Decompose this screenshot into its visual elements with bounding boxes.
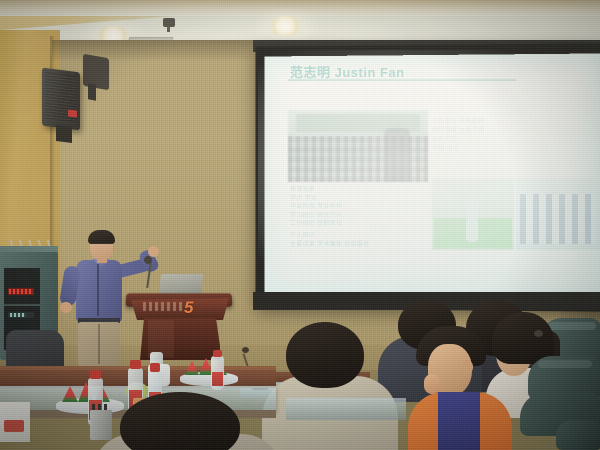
ear	[462, 360, 473, 374]
presenter-shirt-placket	[97, 264, 99, 316]
bottle-cap	[90, 370, 101, 379]
rack-led-digits	[9, 289, 33, 294]
audience-mid-left-head	[286, 322, 364, 388]
paper-box-label	[4, 420, 24, 432]
photo-people-row	[520, 194, 596, 244]
projector-mount	[167, 26, 170, 32]
presenter-right-hand	[148, 246, 159, 257]
speaker-brand-logo	[68, 109, 77, 117]
audience-profile-jersey-panel	[438, 392, 480, 450]
slide-title-rule	[288, 79, 516, 81]
bottle-label	[212, 372, 223, 386]
trouser-seam	[98, 324, 100, 364]
ceiling-downlight-icon	[268, 16, 302, 36]
bottle-cap	[130, 360, 141, 369]
pen-cup	[90, 410, 112, 440]
bottle-cap	[150, 363, 160, 372]
photo-figure	[466, 196, 478, 242]
slide-right-notes: 工作单位 职务职称 研究领域 主要方向 联系方式 邮箱 电话	[432, 118, 582, 154]
table-microphone-icon	[242, 347, 249, 353]
conference-chair	[556, 420, 600, 450]
glasses-icon	[92, 243, 112, 248]
audience-profile-hand	[424, 374, 440, 394]
bottle-cap	[213, 350, 222, 357]
photo-foreground-person	[384, 128, 410, 182]
hair-clip-icon	[534, 330, 543, 337]
speaker-bracket	[83, 54, 109, 91]
presenter-hair	[88, 230, 115, 244]
podium-logo: 5	[184, 299, 200, 316]
rack-second-digits	[10, 313, 26, 317]
speaker-bracket-arm	[88, 83, 96, 100]
speaker-mount	[56, 125, 72, 143]
rack-shelf	[4, 304, 40, 306]
presenter-torso	[76, 260, 122, 322]
slide-team-photo	[516, 178, 600, 250]
chair-highlight	[538, 360, 592, 368]
podium-microphone-icon	[144, 256, 152, 264]
slide-text-block-1: 教育背景 学历 学位 毕业院校 专业名称 学习经历 研究方向 工作经历 任职单位	[290, 186, 410, 229]
slide-sports-photo	[432, 178, 514, 250]
photo-scene: 范志明 Justin Fan 教育背景 学历 学位 毕业院校 专业名称 学习经历…	[0, 0, 600, 450]
podium-engraved-text	[143, 302, 185, 311]
slide-group-photo	[288, 110, 428, 182]
slide-text-block-2: 个人简介 主要成果 学术兼职 社会服务	[290, 232, 420, 249]
presenter-left-hand	[60, 302, 72, 313]
chair-highlight	[548, 322, 596, 330]
second-table-glass	[286, 398, 406, 420]
